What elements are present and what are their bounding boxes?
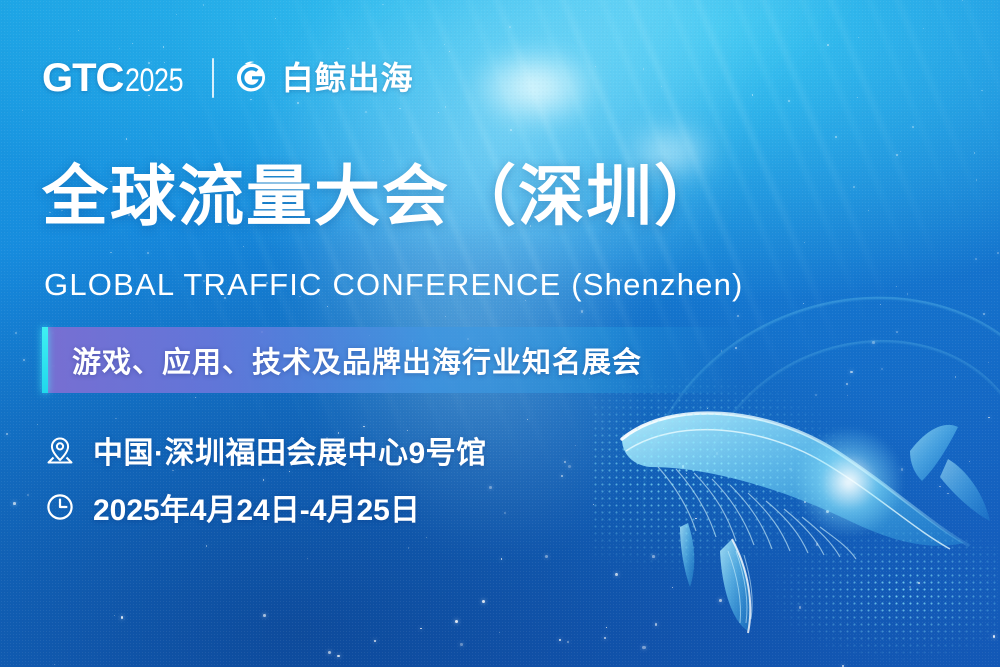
light-glow-icon [774, 407, 924, 557]
conference-poster: GTC 2025 白鲸出海 全球流量大会（深圳） GLOBAL TRAFFIC … [0, 0, 1000, 667]
event-details: 中国·深圳福田会展中心9号馆 2025年4月24日-4月25日 [44, 428, 487, 542]
detail-row-venue: 中国·深圳福田会展中心9号馆 [44, 428, 487, 472]
page-subtitle: GLOBAL TRAFFIC CONFERENCE (Shenzhen) [44, 268, 744, 302]
gtc-logo-text: GTC [42, 58, 123, 98]
map-pin-icon [44, 434, 76, 466]
detail-row-date: 2025年4月24日-4月25日 [44, 485, 487, 529]
brand-name-text: 白鲸出海 [282, 62, 414, 94]
tagline-text: 游戏、应用、技术及品牌出海行业知名展会 [72, 339, 642, 381]
page-title: 全球流量大会（深圳） [42, 160, 722, 233]
particle-whale-illustration-icon [592, 355, 1000, 667]
brand-lockup: 白鲸出海 [231, 58, 414, 98]
whale-circle-g-logo-icon [231, 58, 271, 98]
brand-header: GTC 2025 白鲸出海 [42, 58, 414, 98]
tagline-accent-bar-icon [42, 327, 48, 393]
gtc-logo: GTC 2025 [42, 58, 195, 98]
tagline-banner: 游戏、应用、技术及品牌出海行业知名展会 [42, 327, 742, 393]
clock-icon [44, 491, 76, 523]
gtc-logo-year: 2025 [125, 64, 183, 96]
vertical-divider-icon [212, 58, 214, 98]
venue-text: 中国·深圳福田会展中心9号馆 [93, 428, 487, 472]
date-text: 2025年4月24日-4月25日 [93, 485, 420, 529]
